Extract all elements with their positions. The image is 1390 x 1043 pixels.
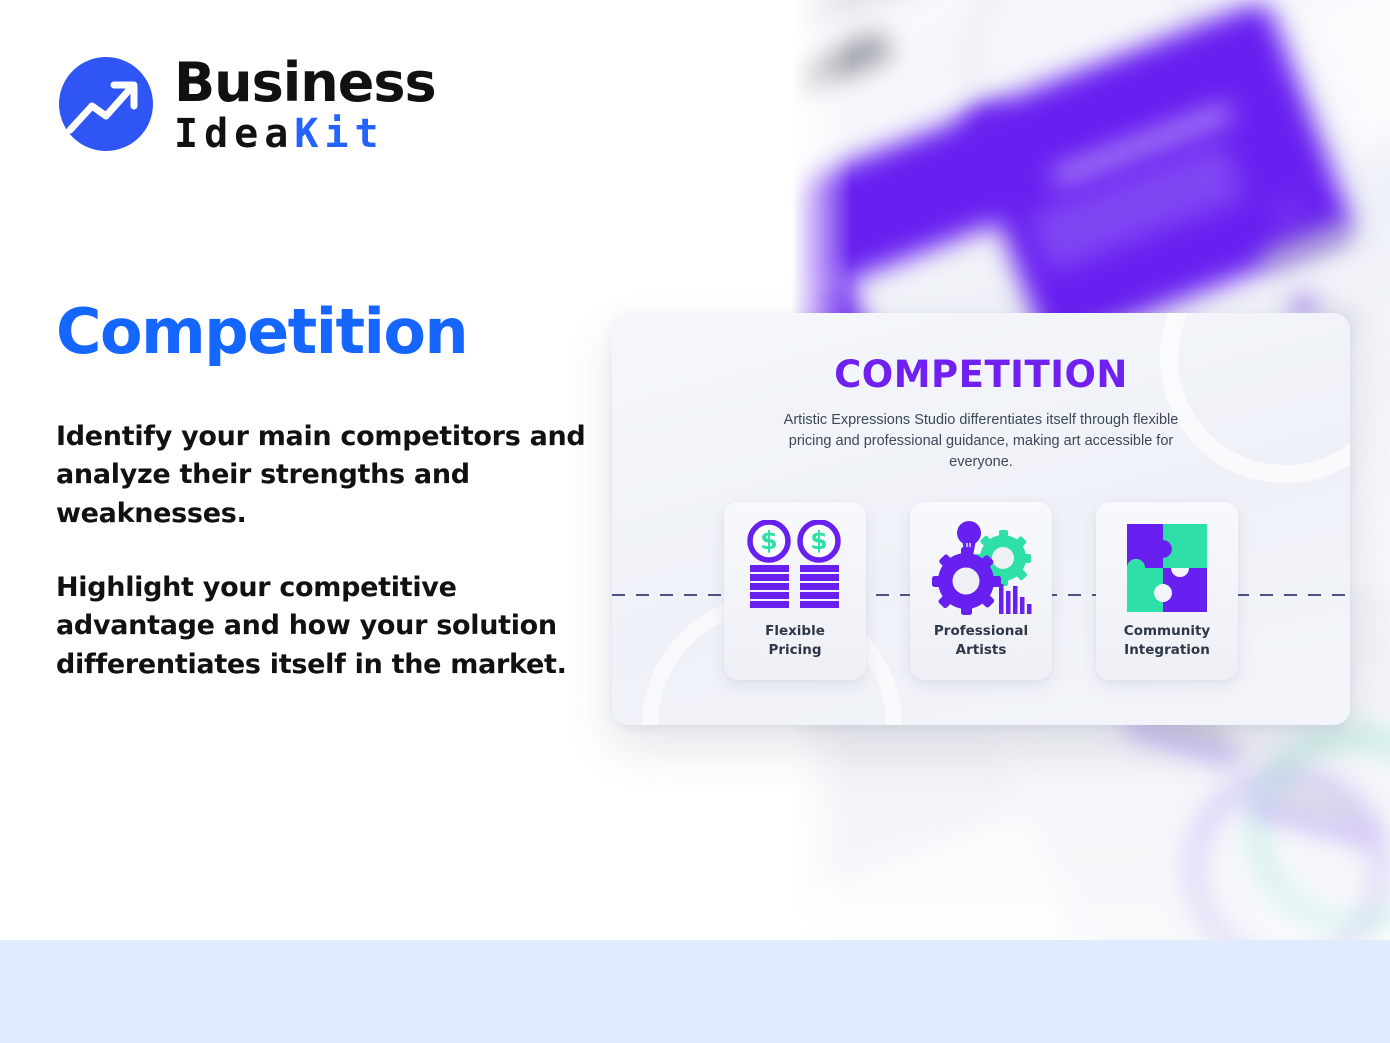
- puzzle-pieces-icon: [1121, 516, 1213, 620]
- brand-name-line1: Business: [174, 56, 436, 110]
- feature-tile-professional-artists[interactable]: Professional Artists: [910, 502, 1052, 680]
- card-title: COMPETITION: [612, 353, 1350, 396]
- tile-label-line2: Pricing: [768, 642, 821, 658]
- feature-tile-label: Professional Artists: [934, 622, 1028, 659]
- tile-label-line1: Community: [1124, 623, 1210, 639]
- trending-up-arrow-icon: [56, 52, 156, 156]
- tile-label-line1: Flexible: [765, 623, 825, 639]
- brand-wordmark: Business IdeaKit: [174, 54, 436, 154]
- tile-label-line2: Artists: [956, 642, 1007, 658]
- feature-tile-label: Community Integration: [1124, 622, 1210, 659]
- coin-stacks-icon: $ $: [745, 516, 845, 620]
- svg-text:$: $: [810, 526, 827, 555]
- slide-root: Business IdeaKit Competition Identify yo…: [0, 0, 1390, 1043]
- brand-name-idea: Idea: [174, 111, 294, 157]
- brand-name-line2: IdeaKit: [174, 114, 436, 154]
- tile-label-line2: Integration: [1124, 642, 1210, 658]
- brand-logo: Business IdeaKit: [56, 52, 436, 156]
- body-copy: Identify your main competitors and analy…: [56, 418, 586, 684]
- page-title: Competition: [56, 295, 467, 368]
- svg-text:$: $: [760, 526, 777, 555]
- tile-label-line1: Professional: [934, 623, 1028, 639]
- body-paragraph-1: Identify your main competitors and analy…: [56, 418, 586, 533]
- feature-tile-flexible-pricing[interactable]: $ $: [724, 502, 866, 680]
- gears-lightbulb-chart-icon: [929, 516, 1033, 620]
- feature-tile-community-integration[interactable]: Community Integration: [1096, 502, 1238, 680]
- feature-tile-list: $ $: [612, 502, 1350, 680]
- decorative-ring: [1160, 313, 1350, 483]
- body-paragraph-2: Highlight your competitive advantage and…: [56, 569, 586, 684]
- competition-card: COMPETITION Artistic Expressions Studio …: [612, 313, 1350, 725]
- feature-tile-label: Flexible Pricing: [765, 622, 825, 659]
- bottom-accent-bar: [0, 940, 1390, 1043]
- brand-name-kit: Kit: [294, 111, 384, 157]
- card-subtitle: Artistic Expressions Studio differentiat…: [781, 410, 1181, 473]
